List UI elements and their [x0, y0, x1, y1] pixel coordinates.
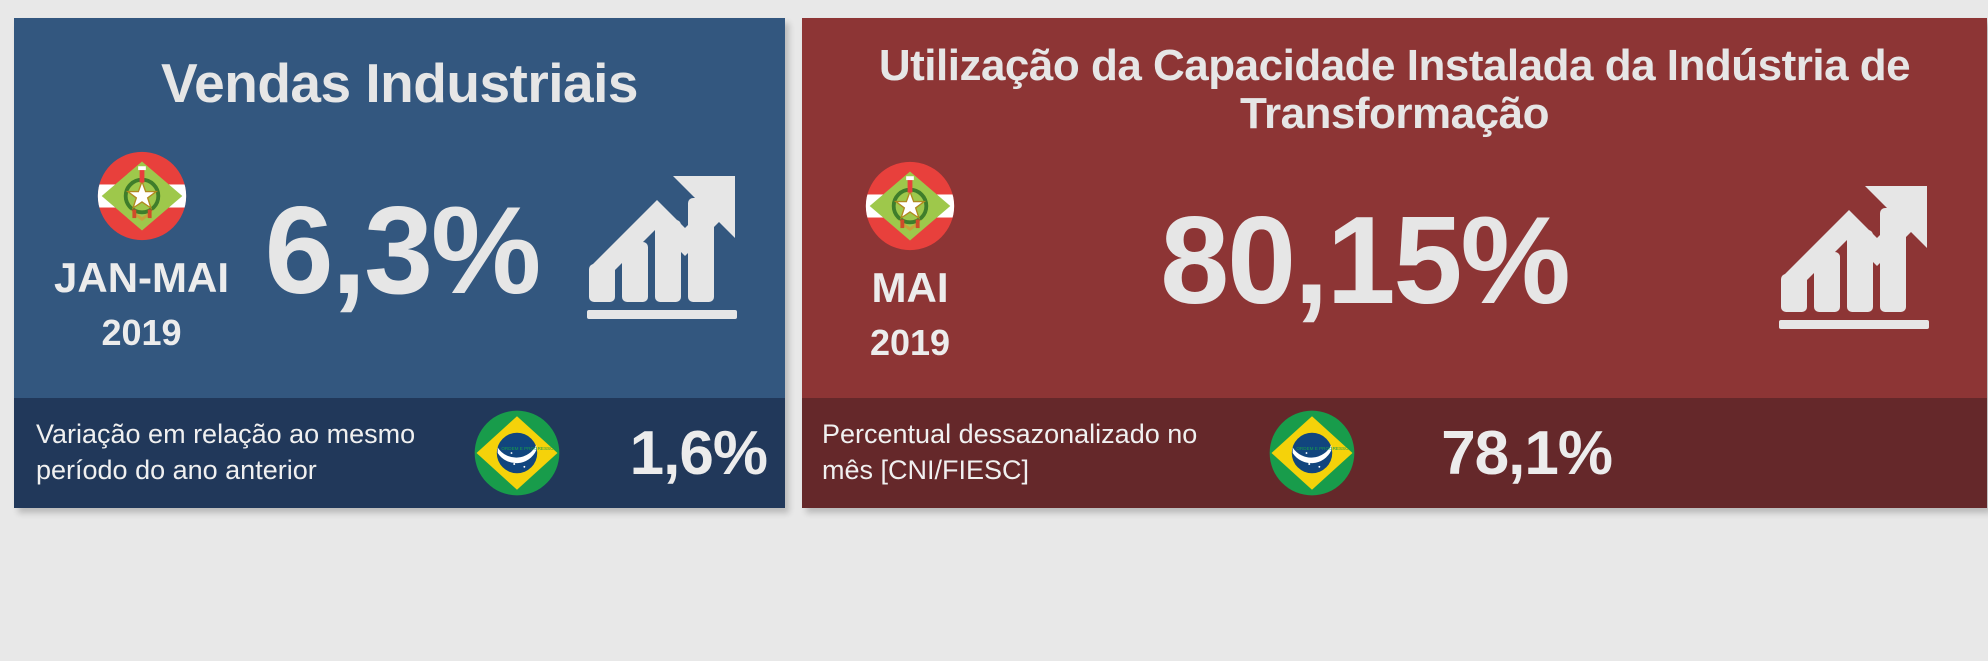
period-year: 2019 [870, 322, 950, 364]
infographic-board: Vendas Industriais [0, 0, 1988, 661]
svg-text:ORDEM E PROGRESSO: ORDEM E PROGRESSO [1296, 446, 1349, 451]
card-footer: Variação em relação ao mesmo período do … [14, 398, 785, 508]
footer-value: 1,6% [577, 418, 767, 489]
card-vendas-industriais: Vendas Industriais [14, 18, 785, 508]
card-title: Vendas Industriais [14, 54, 785, 113]
footer-note: Variação em relação ao mesmo período do … [36, 417, 457, 488]
growth-bar-chart-icon [585, 168, 745, 333]
card-body: JAN-MAI 2019 6,3% [14, 113, 785, 398]
period-block: JAN-MAI 2019 [54, 148, 229, 354]
period-year: 2019 [101, 312, 181, 354]
card-footer: Percentual dessazonalizado no mês [CNI/F… [802, 398, 1987, 508]
card-title: Utilização da Capacidade Instalada da In… [802, 42, 1987, 137]
card-main-value: 6,3% [219, 180, 585, 322]
footer-value: 78,1% [1372, 418, 1612, 489]
brazil-flag-icon: ORDEM E PROGRESSO [471, 407, 563, 499]
santa-catarina-flag-icon [94, 148, 190, 244]
footer-note: Percentual dessazonalizado no mês [CNI/F… [822, 417, 1252, 488]
growth-bar-chart-icon [1777, 178, 1937, 343]
card-utilizacao-capacidade-instalada: Utilização da Capacidade Instalada da In… [802, 18, 1987, 508]
period-block: MAI 2019 [862, 158, 958, 364]
brazil-flag-icon: ORDEM E PROGRESSO [1266, 407, 1358, 499]
svg-text:ORDEM E PROGRESSO: ORDEM E PROGRESSO [501, 446, 554, 451]
period-label: MAI [872, 264, 949, 312]
card-main-value: 80,15% [952, 190, 1777, 332]
card-body: MAI 2019 80,15% [802, 137, 1987, 398]
santa-catarina-flag-icon [862, 158, 958, 254]
period-label: JAN-MAI [54, 254, 229, 302]
